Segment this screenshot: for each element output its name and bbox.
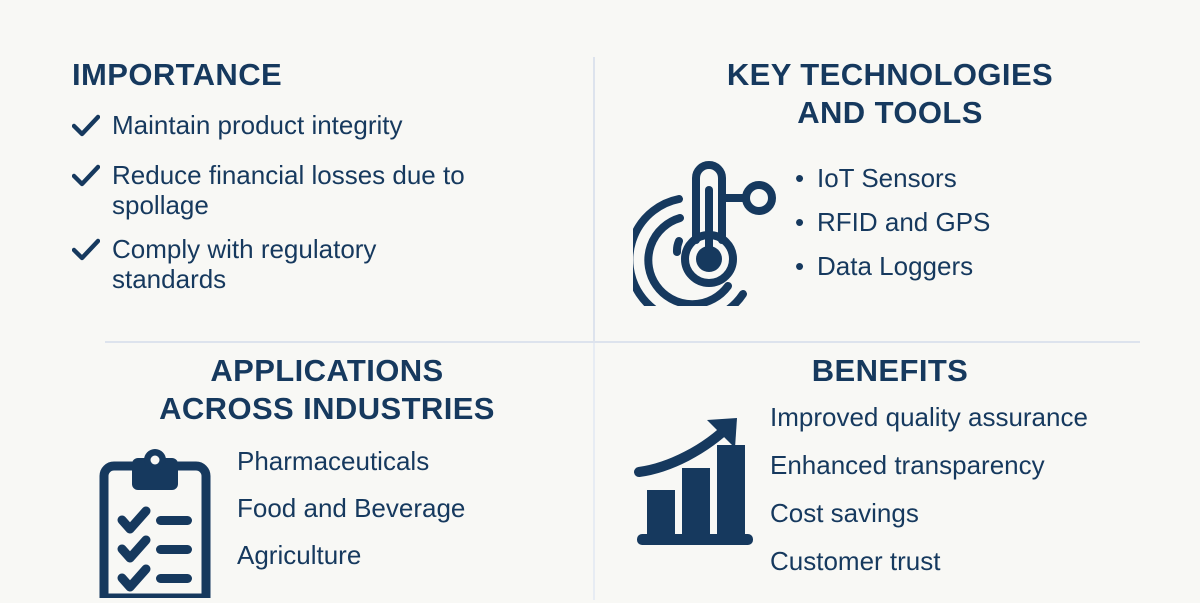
- technologies-icon-container: [620, 146, 795, 311]
- list-item: • IoT Sensors: [795, 163, 990, 193]
- list-item: Customer trust: [770, 546, 1088, 576]
- check-icon: [72, 234, 112, 270]
- list-item: Agriculture: [237, 540, 465, 570]
- page-title: COLD CHAIN MONITORING: [0, 0, 1200, 18]
- technologies-heading: KEY TECHNOLOGIES AND TOOLS: [620, 56, 1160, 132]
- benefits-list: Improved quality assurance Enhanced tran…: [770, 402, 1088, 594]
- vertical-divider-top: [593, 57, 595, 342]
- clipboard-checklist-icon: [94, 448, 216, 603]
- quadrant-importance: IMPORTANCE Maintain product integrity Re…: [72, 56, 582, 336]
- check-icon: [72, 110, 112, 146]
- applications-list: Pharmaceuticals Food and Beverage Agricu…: [237, 446, 465, 587]
- list-item-label: Data Loggers: [817, 251, 973, 281]
- list-item: Reduce financial losses due to spollage: [72, 160, 582, 220]
- technologies-body: • IoT Sensors • RFID and GPS • Data Logg…: [620, 146, 1160, 311]
- applications-heading-line2: ACROSS INDUSTRIES: [159, 391, 495, 426]
- quadrant-technologies: KEY TECHNOLOGIES AND TOOLS: [620, 56, 1160, 336]
- list-item: Improved quality assurance: [770, 402, 1088, 432]
- check-icon: [72, 160, 112, 196]
- benefits-icon-container: [620, 402, 770, 555]
- applications-body: Pharmaceuticals Food and Beverage Agricu…: [72, 446, 582, 603]
- quadrant-benefits: BENEFITS: [620, 352, 1160, 600]
- list-item: Pharmaceuticals: [237, 446, 465, 476]
- list-item-label: Reduce financial losses due to spollage: [112, 160, 472, 220]
- technologies-list: • IoT Sensors • RFID and GPS • Data Logg…: [795, 163, 990, 295]
- bullet-icon: •: [795, 163, 817, 193]
- list-item: • Data Loggers: [795, 251, 990, 281]
- list-item: • RFID and GPS: [795, 207, 990, 237]
- bullet-icon: •: [795, 251, 817, 281]
- benefits-heading: BENEFITS: [620, 352, 1160, 390]
- applications-heading: APPLICATIONS ACROSS INDUSTRIES: [72, 352, 582, 428]
- list-item: Food and Beverage: [237, 493, 465, 523]
- technologies-heading-line2: AND TOOLS: [797, 95, 983, 130]
- list-item: Comply with regulatory standards: [72, 234, 582, 294]
- quadrant-applications: APPLICATIONS ACROSS INDUSTRIES: [72, 352, 582, 600]
- benefits-body: Improved quality assurance Enhanced tran…: [620, 402, 1160, 594]
- list-item: Enhanced transparency: [770, 450, 1088, 480]
- technologies-heading-line1: KEY TECHNOLOGIES: [727, 57, 1053, 92]
- importance-heading: IMPORTANCE: [72, 56, 582, 94]
- importance-list: Maintain product integrity Reduce financ…: [72, 110, 582, 294]
- list-item: Cost savings: [770, 498, 1088, 528]
- list-item: Maintain product integrity: [72, 110, 582, 146]
- list-item-label: RFID and GPS: [817, 207, 990, 237]
- list-item-label: Comply with regulatory standards: [112, 234, 472, 294]
- vertical-divider-bottom: [593, 343, 595, 600]
- list-item-label: IoT Sensors: [817, 163, 957, 193]
- growth-bar-chart-icon: [633, 410, 758, 555]
- applications-heading-line1: APPLICATIONS: [210, 353, 443, 388]
- bullet-icon: •: [795, 207, 817, 237]
- horizontal-divider: [105, 341, 1140, 343]
- thermometer-sensor-icon: [633, 146, 783, 311]
- page-title-container: COLD CHAIN MONITORING: [0, 0, 1200, 18]
- applications-icon-container: [72, 446, 237, 603]
- list-item-label: Maintain product integrity: [112, 110, 402, 140]
- infographic-canvas: COLD CHAIN MONITORING IMPORTANCE Maintai…: [0, 0, 1200, 600]
